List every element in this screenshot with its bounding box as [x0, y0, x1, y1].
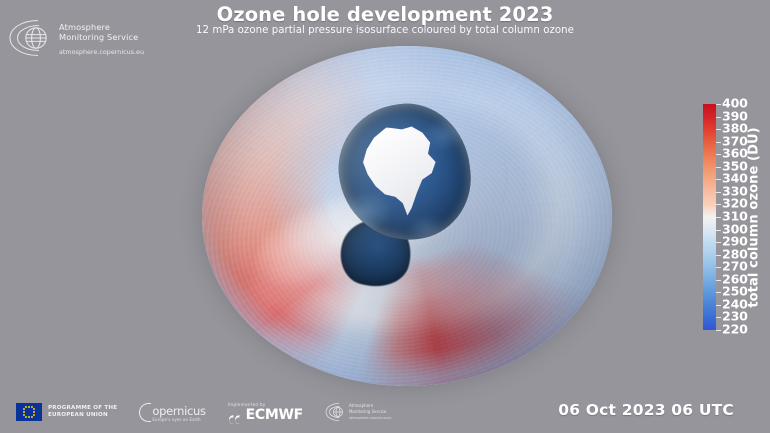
copernicus-logo: opernicus Europe's eyes on Earth [139, 403, 205, 422]
copernicus-tagline: Europe's eyes on Earth [152, 417, 205, 422]
colorbar-tick-mark [716, 117, 721, 118]
cams-footer-logo: Atmosphere Monitoring Service atmosphere… [325, 402, 391, 422]
cams-globe-icon-small [325, 402, 345, 422]
ozone-hole-opening [333, 97, 478, 246]
ecmwf-wordmark: ECMWF [246, 408, 303, 422]
colorbar-tick-mark [716, 267, 721, 268]
colorbar-tick-mark [716, 255, 721, 256]
eu-programme-logo: PROGRAMME OF THE EUROPEAN UNION [16, 403, 117, 421]
colorbar-tick-mark [716, 305, 721, 306]
page-title: Ozone hole development 2023 [0, 3, 770, 26]
colorbar-tick-mark [716, 330, 721, 331]
colorbar-tick-mark [716, 192, 721, 193]
ecmwf-row: ECMWF [228, 408, 303, 422]
eu-programme-line2: EUROPEAN UNION [48, 412, 117, 419]
colorbar-tick-mark [716, 179, 721, 180]
globe-isosurface [202, 46, 612, 386]
eu-flag-icon [16, 403, 42, 421]
colorbar-tick-mark [716, 230, 721, 231]
colorbar-axis-title: total column ozone (DU) [744, 104, 764, 330]
footer-logos: PROGRAMME OF THE EUROPEAN UNION opernicu… [16, 399, 391, 425]
copernicus-arc-icon [139, 403, 151, 422]
cams-footer-text: Atmosphere Monitoring Service atmosphere… [349, 403, 391, 420]
colorbar-tick-mark [716, 292, 721, 293]
timestamp-label: 06 Oct 2023 06 UTC [558, 401, 734, 419]
eu-programme-line1: PROGRAMME OF THE [48, 405, 117, 412]
footer: PROGRAMME OF THE EUROPEAN UNION opernicu… [0, 391, 770, 433]
cams-footer-line2: Monitoring Service [349, 409, 391, 414]
colorbar-tick-mark [716, 104, 721, 105]
colorbar-gradient [703, 104, 716, 330]
copernicus-wordmark: opernicus [152, 405, 205, 417]
colorbar-tick-mark [716, 242, 721, 243]
ozone-isosurface-render [196, 38, 620, 394]
colorbar-tick-mark [716, 142, 721, 143]
cams-brand-url: atmosphere.copernicus.eu [59, 48, 144, 57]
eu-programme-text: PROGRAMME OF THE EUROPEAN UNION [48, 405, 117, 419]
copernicus-text: opernicus Europe's eyes on Earth [152, 405, 205, 422]
ecmwf-mark-icon [228, 410, 243, 421]
colorbar-tick-mark [716, 204, 721, 205]
colorbar-tick-mark [716, 317, 721, 318]
cams-footer-url: atmosphere.copernicus.eu [349, 416, 391, 421]
colorbar-tick-mark [716, 280, 721, 281]
colorbar-axis-title-text: total column ozone (DU) [747, 127, 762, 307]
page-subtitle: 12 mPa ozone partial pressure isosurface… [0, 25, 770, 36]
colorbar-tick-mark [716, 154, 721, 155]
colorbar-tick-mark [716, 167, 721, 168]
ozone-visualisation-screenshot: Atmosphere Monitoring Service atmosphere… [0, 0, 770, 433]
colorbar-tick-mark [716, 129, 721, 130]
ecmwf-logo: Implemented by ECMWF [228, 402, 303, 422]
colorbar-tick-mark [716, 217, 721, 218]
